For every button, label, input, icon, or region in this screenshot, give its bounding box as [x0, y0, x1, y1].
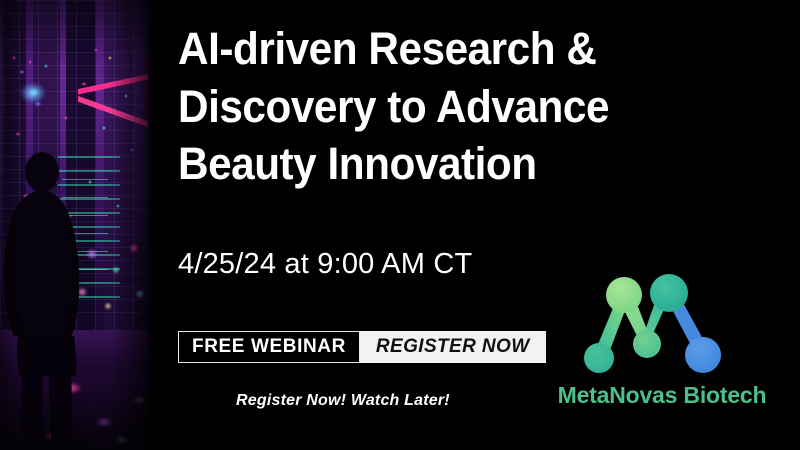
cta-bar[interactable]: FREE WEBINAR REGISTER NOW: [178, 331, 546, 363]
hero-photo: [0, 0, 152, 450]
metanovas-m-mark-icon: [581, 272, 731, 377]
page-title: AI-driven Research & Discovery to Advanc…: [178, 20, 742, 193]
tagline: Register Now! Watch Later!: [236, 392, 450, 410]
webinar-banner: AI-driven Research & Discovery to Advanc…: [0, 0, 800, 450]
register-now-button[interactable]: REGISTER NOW: [360, 331, 546, 363]
content-panel: AI-driven Research & Discovery to Advanc…: [152, 0, 800, 450]
webinar-datetime: 4/25/24 at 9:00 AM CT: [178, 248, 472, 281]
photo-vignette: [0, 0, 152, 450]
logo-wordmark: MetaNovas Biotech: [537, 382, 787, 409]
free-webinar-label: FREE WEBINAR: [178, 331, 360, 363]
company-logo: MetaNovas Biotech: [537, 272, 787, 422]
